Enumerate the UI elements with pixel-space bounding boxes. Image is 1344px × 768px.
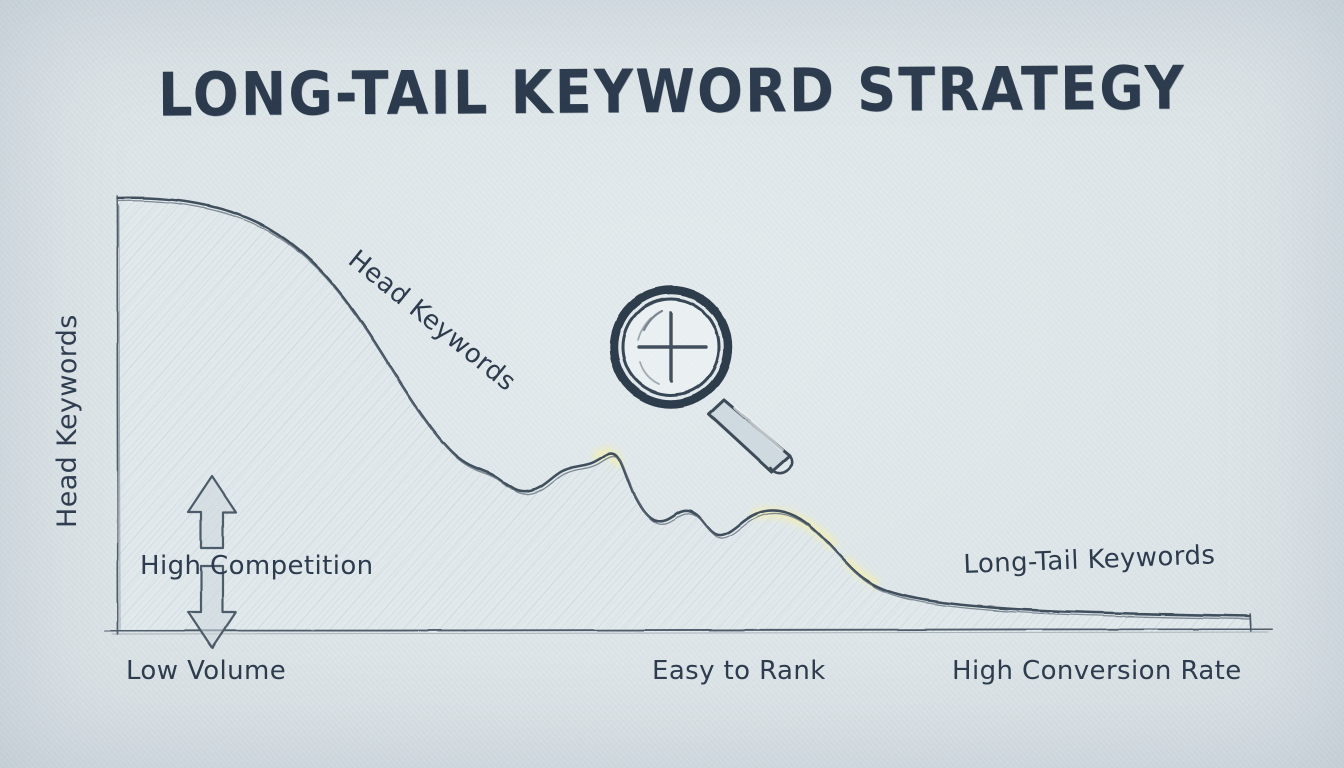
magnifying-glass-icon [614,290,792,473]
x-axis-label-easy-to-rank: Easy to Rank [652,658,826,684]
annotation-high-competition: High Competition [140,553,374,579]
y-axis-label: Head Keywords [54,314,81,528]
x-axis-label-low-volume: Low Volume [126,658,286,684]
x-axis-label-high-conversion-rate: High Conversion Rate [952,658,1242,684]
infographic-canvas: LONG-TAIL KEYWORD STRATEGY [0,0,1344,768]
long-tail-curve-chart [0,0,1344,768]
